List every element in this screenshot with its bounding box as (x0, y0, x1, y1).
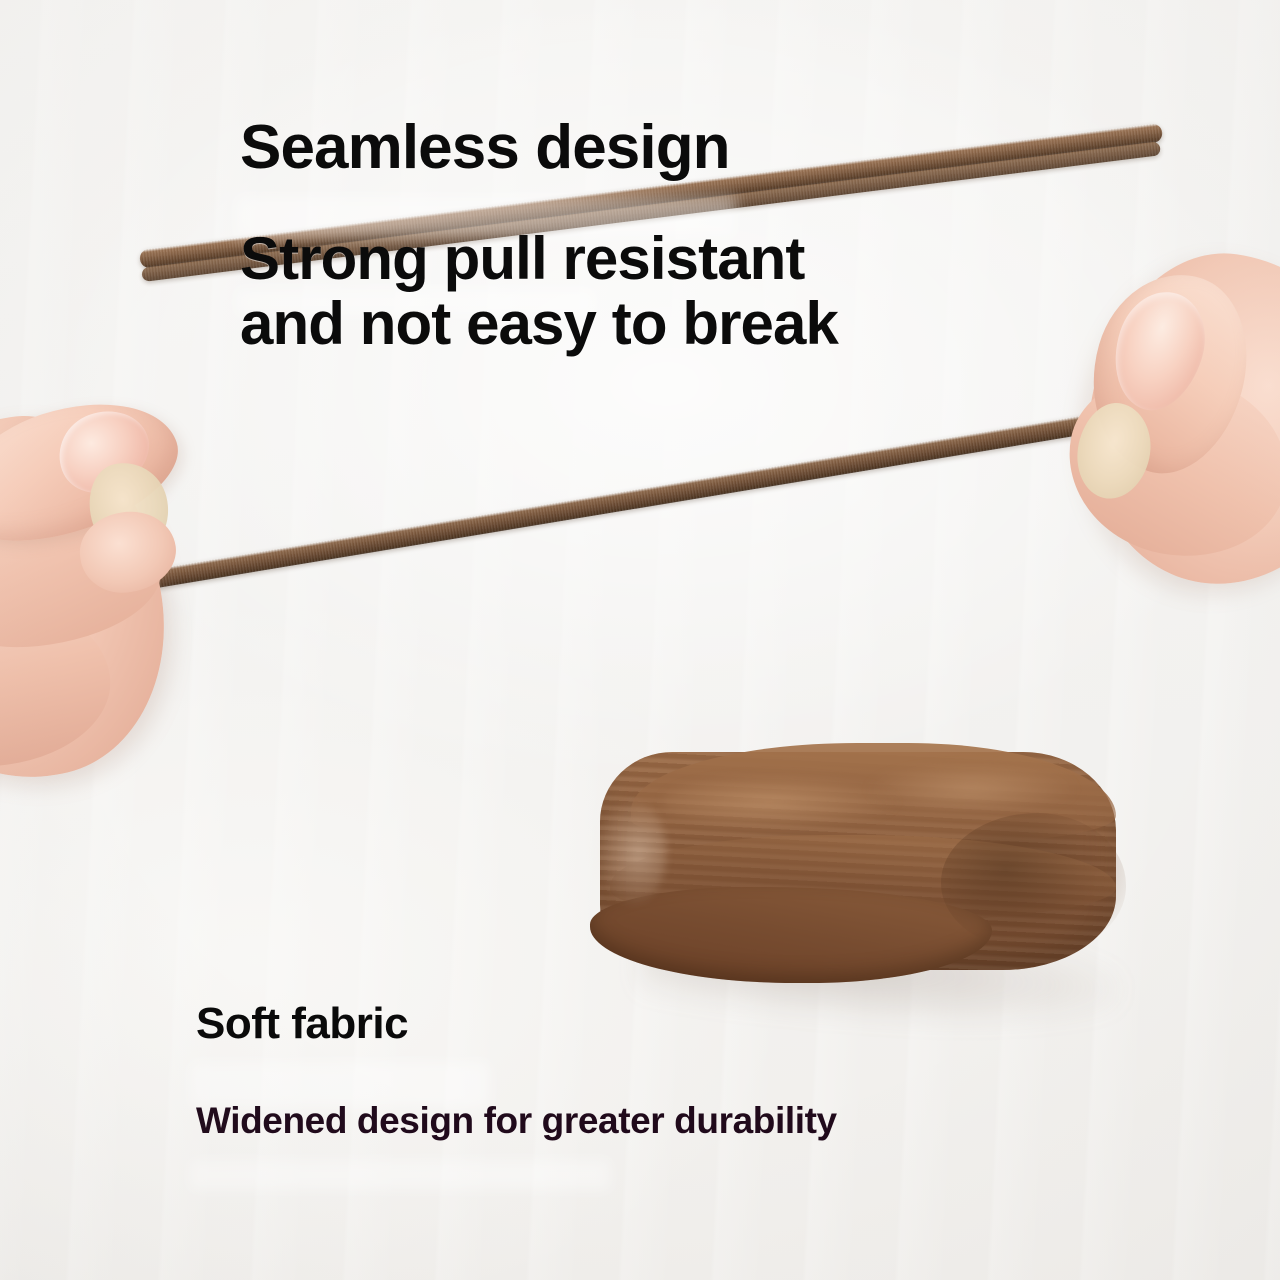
background-vignette (0, 0, 1280, 1280)
product-feature-image: Seamless design Strong pull resistant an… (0, 0, 1280, 1280)
